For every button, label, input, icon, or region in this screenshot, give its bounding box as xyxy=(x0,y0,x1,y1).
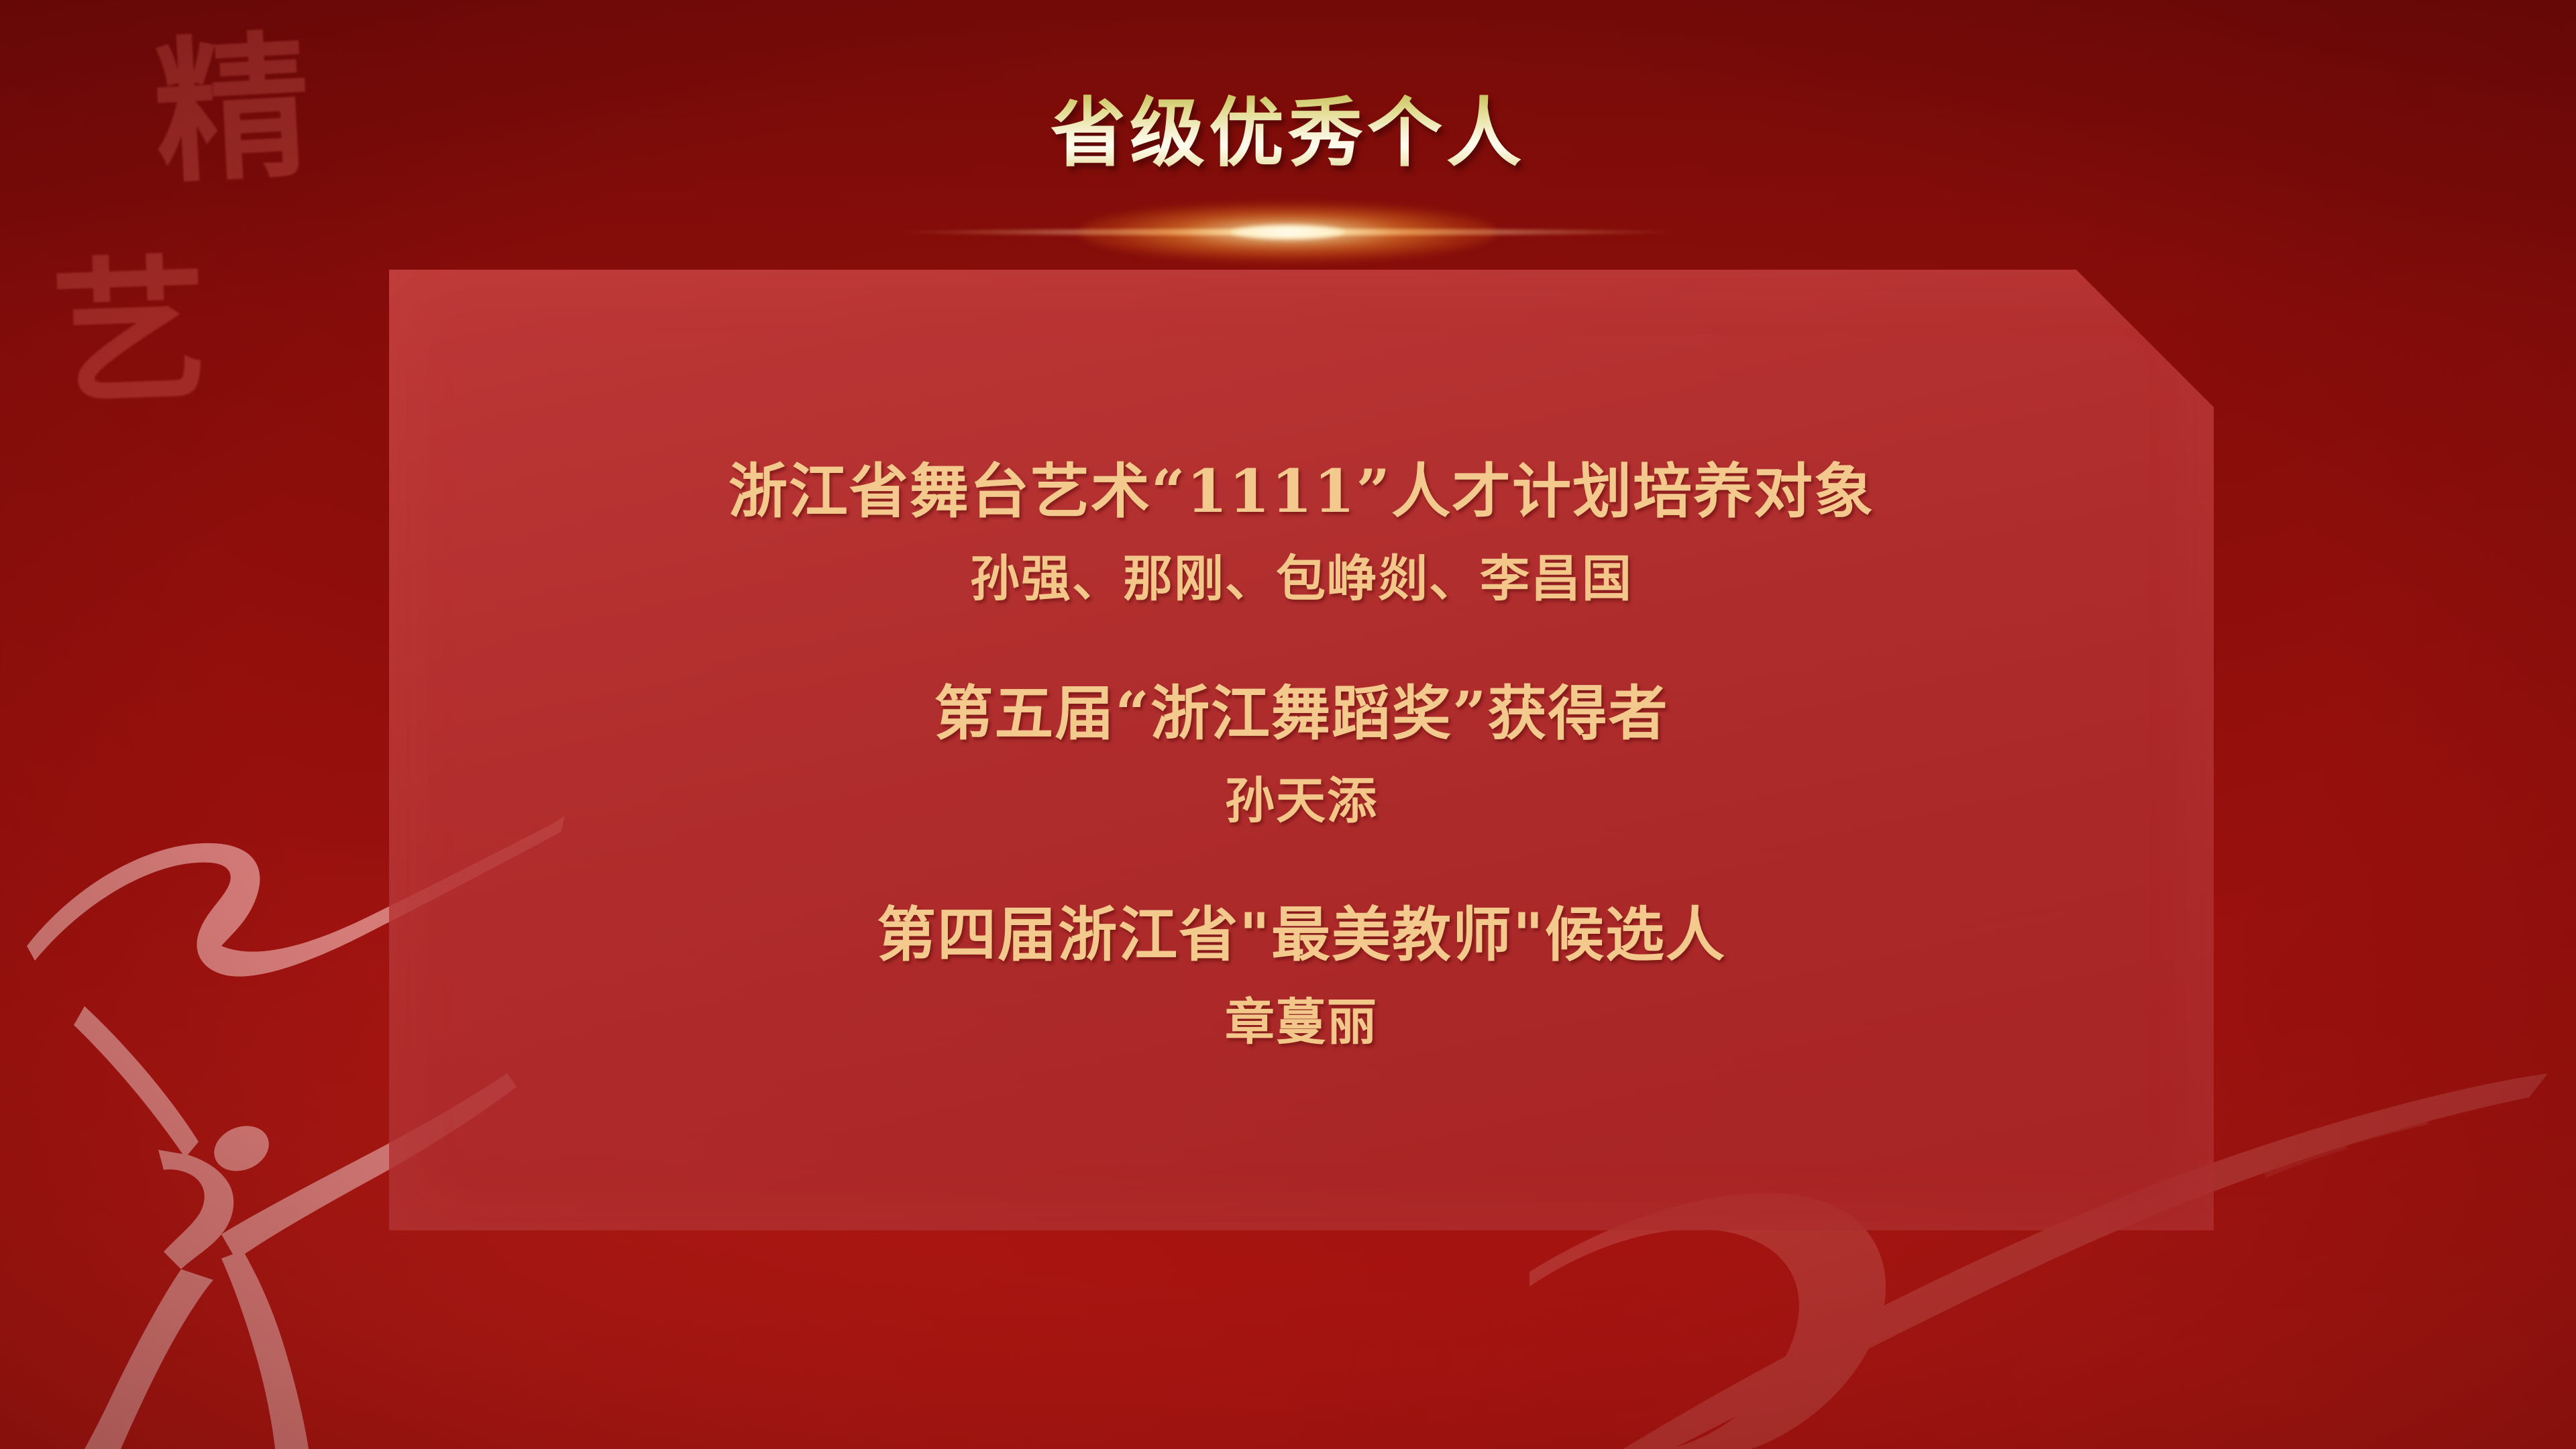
slide-title: 省级优秀个人 xyxy=(1051,94,1525,173)
award-title: 第四届浙江省"最美教师"候选人 xyxy=(389,900,2214,970)
award-recipients: 章蔓丽 xyxy=(389,993,2214,1053)
divider-bar xyxy=(892,229,1684,235)
watermark-character-yi: 艺 xyxy=(50,252,211,413)
glow-divider-icon xyxy=(892,201,1684,263)
slide-title-container: 省级优秀个人 xyxy=(0,94,2576,173)
award-item: 第五届“浙江舞蹈奖”获得者 孙天添 xyxy=(389,679,2214,831)
award-recipients: 孙天添 xyxy=(389,771,2214,831)
award-item: 浙江省舞台艺术“1111”人才计划培养对象 孙强、那刚、包峥剡、李昌国 xyxy=(389,457,2214,609)
awards-list: 浙江省舞台艺术“1111”人才计划培养对象 孙强、那刚、包峥剡、李昌国 第五届“… xyxy=(389,270,2214,1230)
award-recipients: 孙强、那刚、包峥剡、李昌国 xyxy=(389,549,2214,609)
divider-core xyxy=(1231,225,1345,239)
divider-glow xyxy=(1080,203,1496,261)
award-title: 浙江省舞台艺术“1111”人才计划培养对象 xyxy=(389,457,2214,527)
slide-root: 精 艺 省级优秀个人 浙 xyxy=(0,0,2576,1449)
award-title: 第五届“浙江舞蹈奖”获得者 xyxy=(389,679,2214,749)
award-item: 第四届浙江省"最美教师"候选人 章蔓丽 xyxy=(389,900,2214,1053)
